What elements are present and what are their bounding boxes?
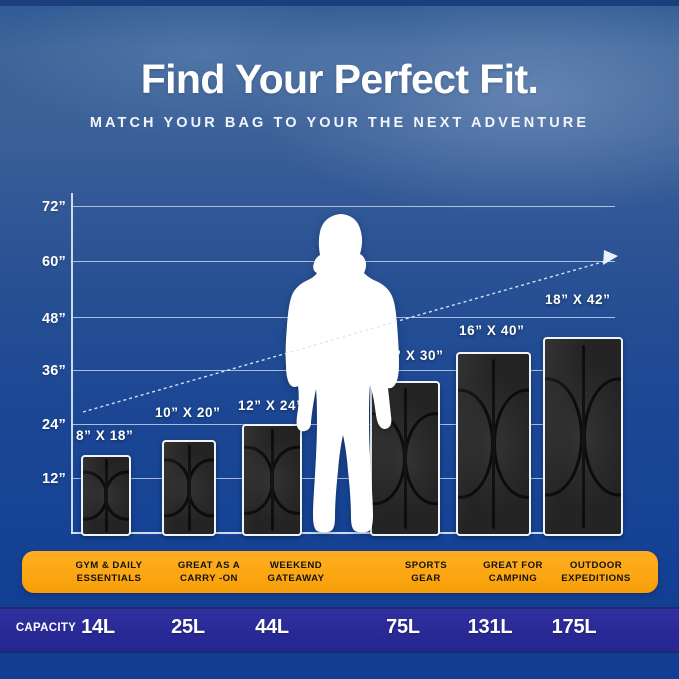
gridline-72	[71, 206, 615, 207]
category-3-line1: WEEKEND	[237, 559, 355, 572]
y-axis-label-72: 72”	[20, 199, 66, 215]
bag-size-label-2: 10” X 20”	[155, 405, 220, 420]
capacity-value-1: 14L	[58, 616, 138, 639]
y-axis-label-12: 12”	[20, 471, 66, 487]
capacity-band: CAPACITY 14L 25L 44L 75L 131L 175L	[0, 607, 679, 653]
bag-size-label-1: 8” X 18”	[76, 428, 133, 443]
bag-gloss	[545, 339, 621, 534]
page-subtitle: MATCH YOUR BAG TO YOUR THE NEXT ADVENTUR…	[0, 115, 679, 131]
header: Find Your Perfect Fit. MATCH YOUR BAG TO…	[0, 58, 679, 131]
y-axis-label-36: 36”	[20, 363, 66, 379]
bag-gloss	[164, 442, 214, 534]
page-title: Find Your Perfect Fit.	[0, 58, 679, 101]
capacity-value-5: 131L	[448, 616, 532, 639]
human-silhouette-icon	[284, 213, 402, 534]
y-axis-line	[71, 193, 73, 534]
bag-gloss	[458, 354, 529, 534]
category-band: GYM & DAILY ESSENTIALS GREAT AS A CARRY …	[22, 551, 658, 593]
capacity-value-2: 25L	[148, 616, 228, 639]
y-axis-label-24: 24”	[20, 417, 66, 433]
category-3[interactable]: WEEKEND GATEAWAY	[237, 559, 355, 585]
bag-bar-5[interactable]	[456, 352, 531, 536]
category-6-line2: EXPEDITIONS	[537, 572, 655, 585]
bag-bar-6[interactable]	[543, 337, 623, 536]
bag-bar-2[interactable]	[162, 440, 216, 536]
capacity-value-4: 75L	[363, 616, 443, 639]
category-6-line1: OUTDOOR	[537, 559, 655, 572]
bag-size-label-6: 18” X 42”	[545, 292, 610, 307]
y-axis-label-48: 48”	[20, 311, 66, 327]
category-3-line2: GATEAWAY	[237, 572, 355, 585]
infographic-root: Find Your Perfect Fit. MATCH YOUR BAG TO…	[0, 0, 679, 679]
y-axis-label-60: 60”	[20, 254, 66, 270]
bag-bar-1[interactable]	[81, 455, 131, 536]
category-6[interactable]: OUTDOOR EXPEDITIONS	[537, 559, 655, 585]
capacity-value-3: 44L	[232, 616, 312, 639]
bag-gloss	[83, 457, 129, 534]
bag-size-label-5: 16” X 40”	[459, 323, 524, 338]
capacity-value-6: 175L	[532, 616, 616, 639]
